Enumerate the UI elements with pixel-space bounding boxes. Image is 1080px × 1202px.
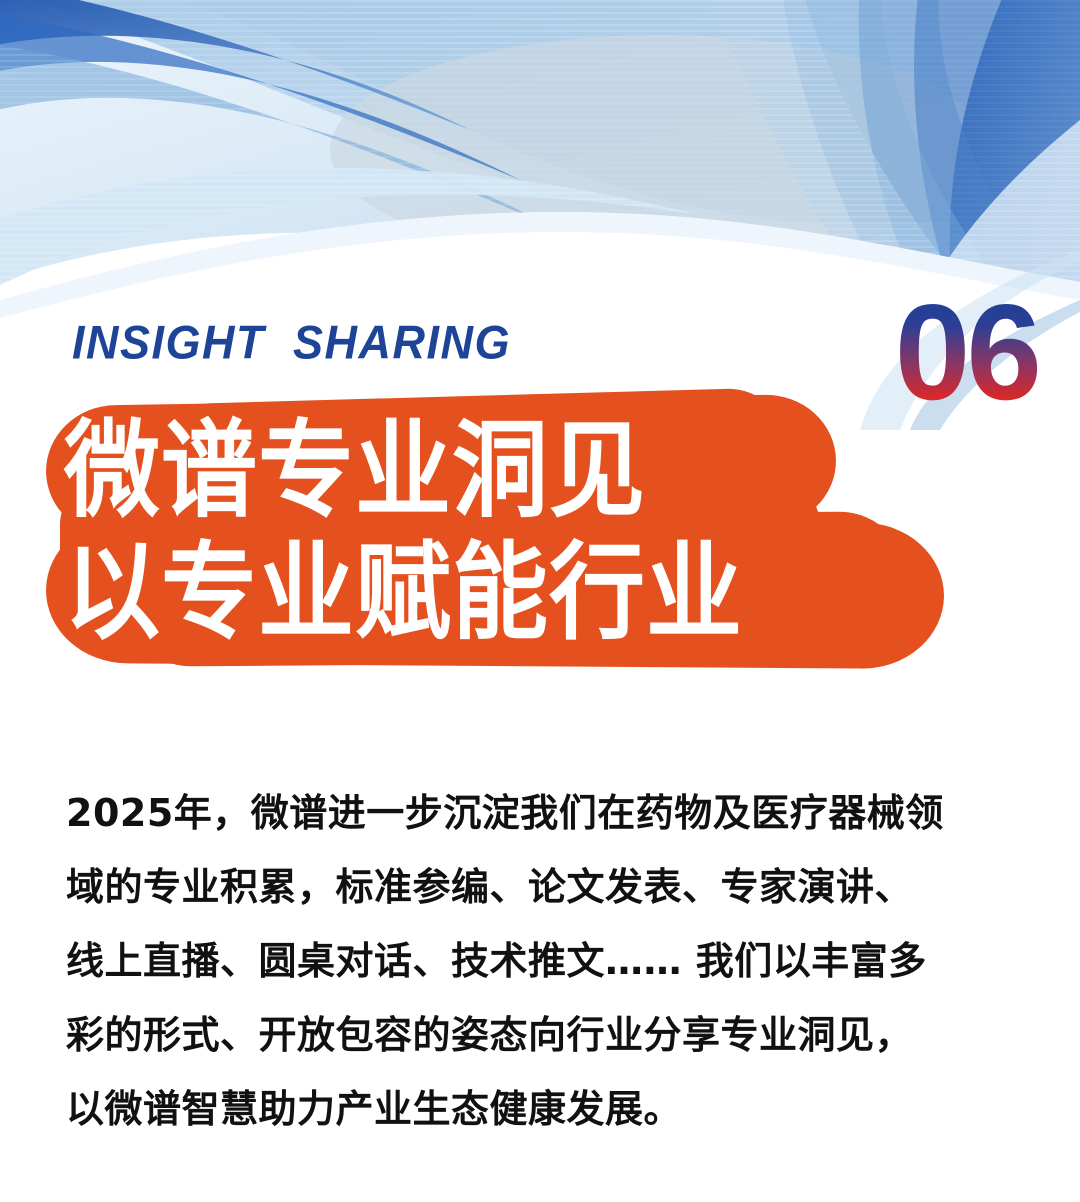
body-line: 线上直播、圆桌对话、技术推文…… 我们以丰富多 <box>66 924 1026 998</box>
body-line: 2025年，微谱进一步沉淀我们在药物及医疗器械领 <box>66 776 1026 850</box>
banner-text-group: 微谱专业洞见 以专业赋能行业 <box>0 392 1080 682</box>
eyebrow-insight-sharing: INSIGHT SHARING <box>72 315 511 370</box>
body-line: 彩的形式、开放包容的姿态向行业分享专业洞见， <box>66 998 1026 1072</box>
body-line: 以微谱智慧助力产业生态健康发展。 <box>66 1072 1026 1146</box>
banner-title-line-1: 微谱专业洞见 <box>64 418 646 524</box>
body-paragraph: 2025年，微谱进一步沉淀我们在药物及医疗器械领 域的专业积累，标准参编、论文发… <box>66 776 1026 1146</box>
poster-page: INSIGHT SHARING 06 微谱专业洞见 以专业赋能行业 2025年，… <box>0 0 1080 1202</box>
header-row: INSIGHT SHARING 06 <box>0 292 1080 402</box>
title-banner: 微谱专业洞见 以专业赋能行业 <box>0 392 1080 682</box>
body-line: 域的专业积累，标准参编、论文发表、专家演讲、 <box>66 850 1026 924</box>
banner-title-line-2: 以专业赋能行业 <box>64 540 743 646</box>
